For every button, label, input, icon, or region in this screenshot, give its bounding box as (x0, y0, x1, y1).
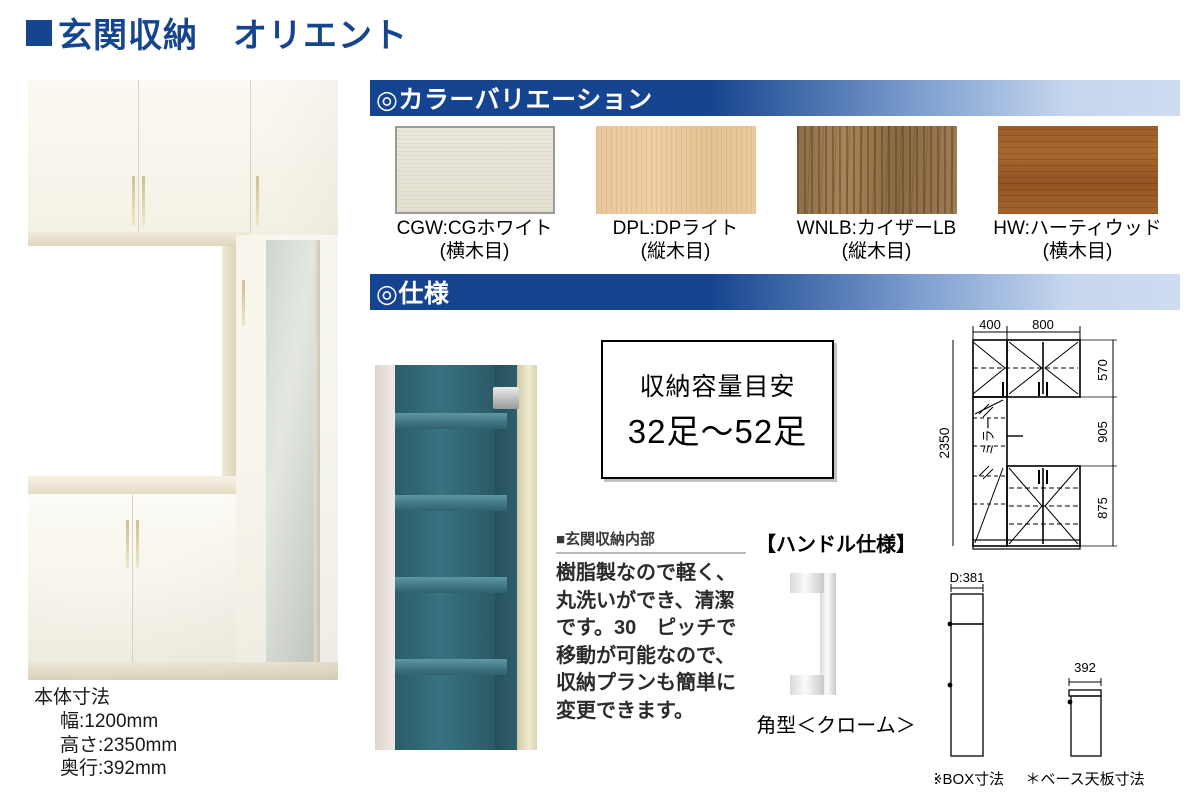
handle-top-mount (790, 573, 824, 593)
interior-description-body: 樹脂製なので軽く、丸洗いができ、清潔です。30 ピッチで移動が可能なので、収納プ… (556, 560, 746, 726)
swatch-hw (998, 126, 1158, 214)
handle-illustration (776, 563, 896, 703)
storage-capacity-box: 収納容量目安 32足〜52足 (601, 340, 834, 479)
page-title-text: 玄関収納 オリエント (58, 8, 408, 57)
body-dimensions: 本体寸法 幅:1200mm 高さ:2350mm 奥行:392mm (28, 686, 338, 781)
color-swatch-item-cgw[interactable]: CGW:CGホワイト (横木目) (374, 126, 575, 264)
swatch-grain-dpl: (縦木目) (575, 241, 776, 264)
interior-photo (375, 365, 537, 750)
interior-hinge (493, 387, 519, 409)
interior-shelf-4 (395, 659, 507, 675)
color-variation-list: CGW:CGホワイト (横木目) DPL:DPライト (縦木目) WNLB:カイ… (374, 126, 1180, 264)
dim-width-right: 800 (1032, 318, 1054, 332)
interior-shelf-1 (395, 413, 507, 429)
color-swatch-item-dpl[interactable]: DPL:DPライト (縦木目) (575, 126, 776, 264)
swatch-grain-wnlb: (縦木目) (776, 241, 977, 264)
swatch-grain-hw: (横木目) (977, 241, 1178, 264)
capacity-heading: 収納容量目安 (639, 367, 795, 403)
title-square-marker (26, 20, 52, 46)
product-photo-column: 本体寸法 幅:1200mm 高さ:2350mm 奥行:392mm (28, 80, 338, 781)
dim-segment-middle: 905 (1095, 421, 1110, 443)
photo-shading-overlay (28, 80, 338, 680)
section-header-specifications: ◎仕様 (370, 274, 1180, 310)
interior-left-frame (375, 365, 395, 750)
swatch-label-hw: HW:ハーティウッド (993, 218, 1161, 239)
color-swatch-item-wnlb[interactable]: WNLB:カイザーLB (縦木目) (776, 126, 977, 264)
dim-segment-bottom: 875 (1095, 497, 1110, 519)
interior-shelf-2 (395, 495, 507, 511)
swatch-cgw (395, 126, 555, 214)
handle-specification: 【ハンドル仕様】 角型＜クローム＞ (746, 528, 926, 738)
base-dimension-caption: ＊ベース天板寸法 (1025, 770, 1144, 788)
interior-description: ■玄関収納内部 樹脂製なので軽く、丸洗いができ、清潔です。30 ピッチで移動が可… (556, 528, 746, 726)
handle-bottom-mount (790, 675, 824, 695)
product-photo (28, 80, 338, 680)
dim-base-depth: 392 (1074, 660, 1096, 675)
dimensions-heading: 本体寸法 (34, 686, 338, 710)
interior-door-edge (517, 365, 537, 750)
swatch-label-dpl: DPL:DPライト (613, 218, 739, 239)
color-swatch-item-hw[interactable]: HW:ハーティウッド (横木目) (977, 126, 1178, 264)
dimension-width: 幅:1200mm (60, 710, 338, 734)
side-view-drawings: D:381 ※BOX寸法 392 ＊ベース天板寸法 (935, 560, 1185, 795)
dim-segment-top: 570 (1095, 359, 1110, 381)
interior-shelf-3 (395, 577, 507, 593)
dim-total-height: 2350 (936, 427, 952, 458)
dimension-depth: 奥行:392mm (60, 757, 338, 781)
elevation-drawing: 400 800 2350 ミラー 570 905 875 (935, 318, 1185, 563)
swatch-label-cgw: CGW:CGホワイト (397, 218, 553, 239)
dim-width-left: 400 (979, 318, 1001, 332)
capacity-value: 32足〜52足 (628, 405, 807, 453)
swatch-dpl (596, 126, 756, 214)
box-dimension-caption: ※BOX寸法 (935, 771, 1004, 788)
interior-description-heading: ■玄関収納内部 (556, 528, 746, 554)
dim-box-depth: D:381 (950, 570, 985, 585)
swatch-label-wnlb: WNLB:カイザーLB (797, 218, 956, 239)
section-header-color-variation: ◎カラーバリエーション (370, 80, 1180, 116)
swatch-wnlb (797, 126, 957, 214)
mirror-label: ミラー (981, 416, 996, 455)
handle-spec-heading: 【ハンドル仕様】 (746, 528, 926, 557)
handle-spec-caption: 角型＜クローム＞ (746, 709, 926, 738)
dimension-height: 高さ:2350mm (60, 734, 338, 758)
swatch-grain-cgw: (横木目) (374, 241, 575, 264)
page-title: 玄関収納 オリエント (26, 8, 408, 57)
